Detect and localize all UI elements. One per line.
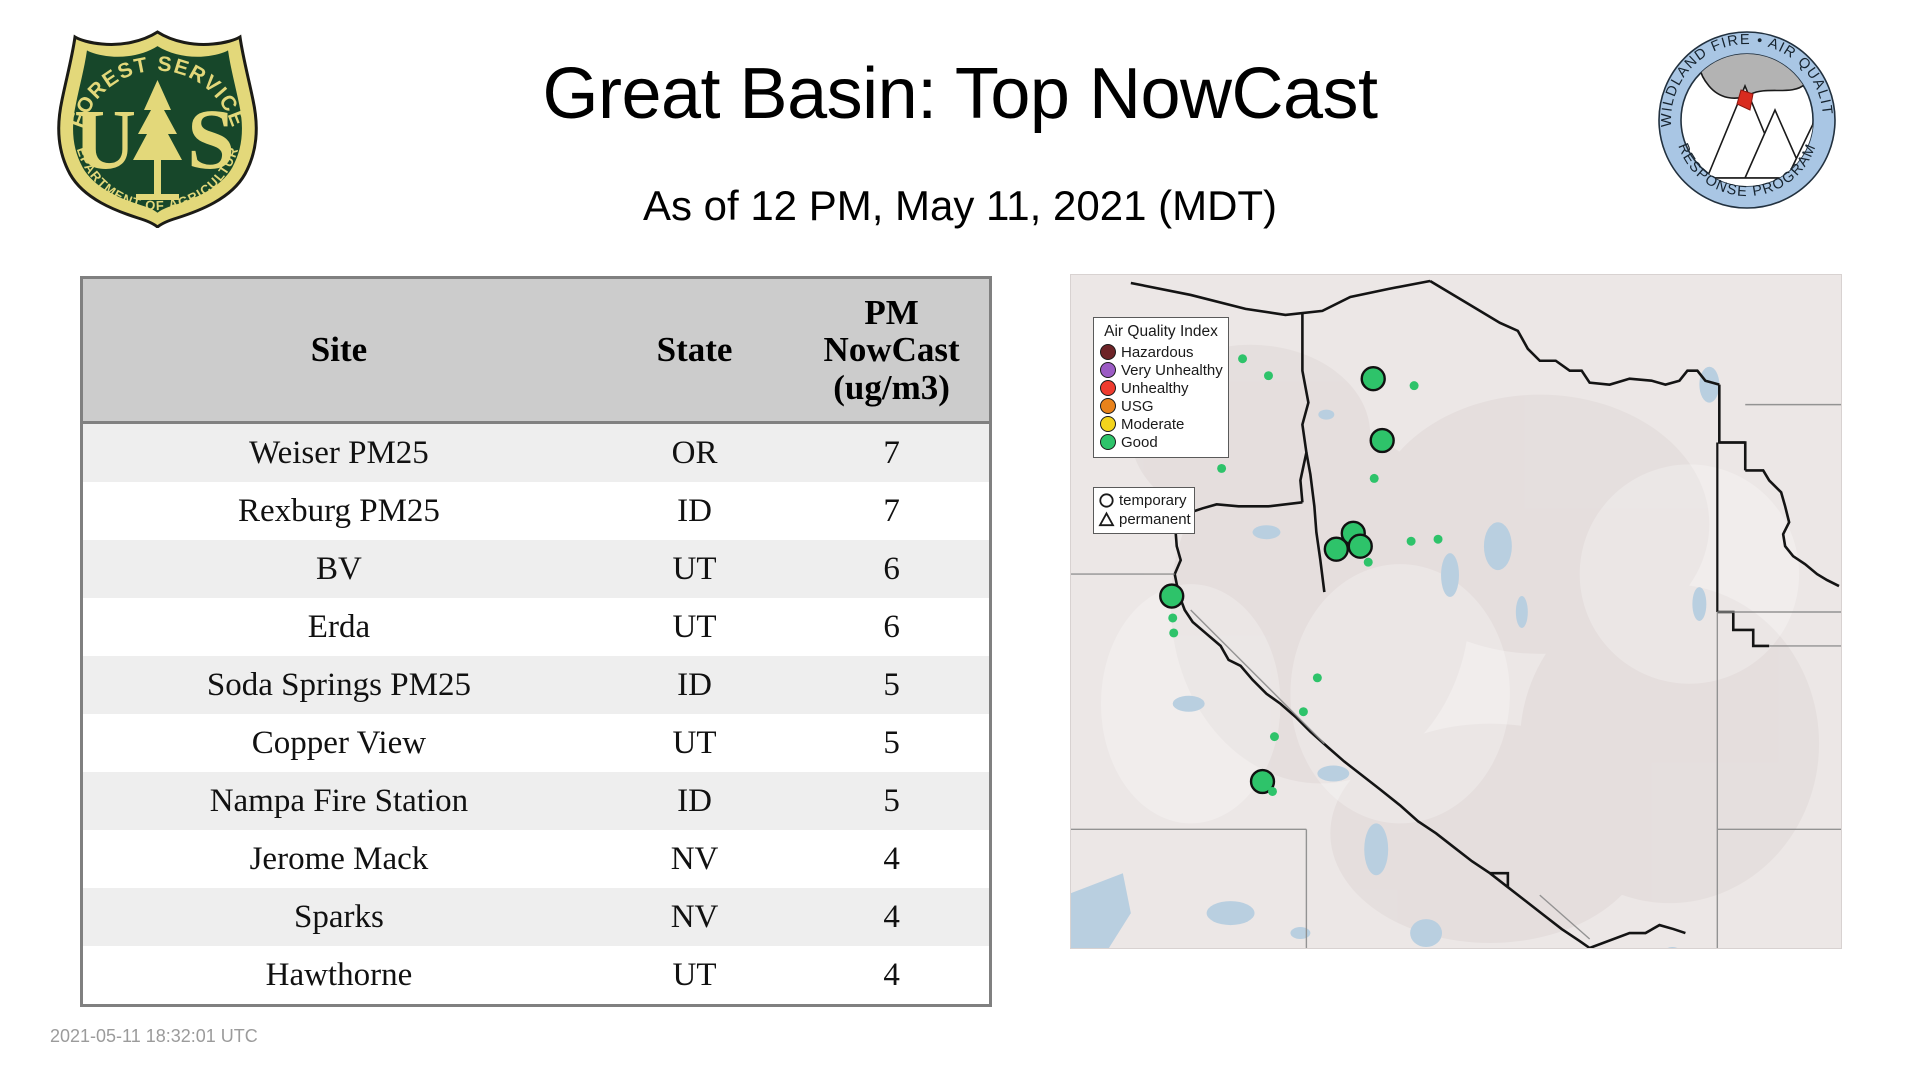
aqi-legend: Air Quality Index HazardousVery Unhealth… [1093, 317, 1229, 458]
table-row: Soda Springs PM25ID5 [83, 656, 989, 714]
cell-state: NV [595, 888, 794, 946]
table-row: SparksNV4 [83, 888, 989, 946]
aqi-legend-row: Unhealthy [1100, 379, 1222, 397]
cell-site: Copper View [83, 714, 595, 772]
monitor-marker[interactable] [1364, 558, 1373, 567]
cell-site: Rexburg PM25 [83, 482, 595, 540]
monitor-marker[interactable] [1349, 535, 1372, 558]
table-row: Nampa Fire StationID5 [83, 772, 989, 830]
monitor-marker[interactable] [1434, 535, 1443, 544]
cell-pm-nowcast: 5 [794, 772, 989, 830]
cell-site: Sparks [83, 888, 595, 946]
cell-state: UT [595, 598, 794, 656]
aqi-legend-label: Unhealthy [1121, 380, 1189, 397]
aqi-swatch-icon [1100, 434, 1116, 450]
aqi-swatch-icon [1100, 398, 1116, 414]
aqi-legend-label: USG [1121, 398, 1154, 415]
monitor-marker[interactable] [1299, 707, 1308, 716]
aqi-legend-row: Moderate [1100, 415, 1222, 433]
legend-row-temporary: temporary [1098, 491, 1189, 510]
legend-row-permanent: permanent [1098, 510, 1189, 529]
aqi-swatch-icon [1100, 344, 1116, 360]
monitor-marker[interactable] [1270, 732, 1279, 741]
usfs-shield-logo: FOREST SERVICE DEPARTMENT OF AGRICULTURE… [50, 28, 265, 228]
aqi-legend-row: Hazardous [1100, 343, 1222, 361]
legend-label-permanent: permanent [1119, 511, 1191, 528]
aqi-legend-title: Air Quality Index [1100, 323, 1222, 341]
aqi-legend-label: Hazardous [1121, 344, 1194, 361]
column-header-pm-line1: PM [798, 294, 985, 331]
column-header-site: Site [83, 279, 595, 423]
cell-state: ID [595, 482, 794, 540]
monitor-marker[interactable] [1160, 585, 1183, 608]
temporary-circle-icon [1098, 492, 1115, 509]
cell-pm-nowcast: 7 [794, 423, 989, 483]
cell-state: ID [595, 656, 794, 714]
monitor-marker[interactable] [1217, 464, 1226, 473]
aqi-legend-label: Moderate [1121, 416, 1184, 433]
page-subtitle: As of 12 PM, May 11, 2021 (MDT) [300, 182, 1620, 230]
render-timestamp: 2021-05-11 18:32:01 UTC [50, 1026, 258, 1047]
monitor-marker[interactable] [1370, 474, 1379, 483]
monitor-marker[interactable] [1371, 429, 1394, 452]
column-header-state: State [595, 279, 794, 423]
aqi-legend-row: Very Unhealthy [1100, 361, 1222, 379]
column-header-pm-line3: (ug/m3) [798, 369, 985, 406]
cell-state: OR [595, 423, 794, 483]
cell-site: Erda [83, 598, 595, 656]
monitor-marker[interactable] [1264, 371, 1273, 380]
cell-state: UT [595, 714, 794, 772]
monitor-marker[interactable] [1238, 354, 1247, 363]
cell-pm-nowcast: 4 [794, 830, 989, 888]
usfs-letter-u: U [74, 91, 136, 187]
aqi-legend-label: Very Unhealthy [1121, 362, 1223, 379]
monitor-marker[interactable] [1168, 613, 1177, 622]
table-row: Jerome MackNV4 [83, 830, 989, 888]
monitor-marker[interactable] [1169, 628, 1178, 637]
monitor-marker[interactable] [1325, 538, 1348, 561]
cell-site: Hawthorne [83, 946, 595, 1004]
monitor-marker[interactable] [1268, 787, 1277, 796]
cell-site: BV [83, 540, 595, 598]
cell-pm-nowcast: 5 [794, 656, 989, 714]
cell-state: ID [595, 772, 794, 830]
monitor-marker[interactable] [1407, 537, 1416, 546]
permanent-triangle-icon [1098, 511, 1115, 528]
monitor-marker[interactable] [1313, 673, 1322, 682]
table-row: Copper ViewUT5 [83, 714, 989, 772]
cell-state: UT [595, 946, 794, 1004]
cell-site: Weiser PM25 [83, 423, 595, 483]
aqi-legend-row: USG [1100, 397, 1222, 415]
table-row: HawthorneUT4 [83, 946, 989, 1004]
legend-label-temporary: temporary [1119, 492, 1187, 509]
aqi-swatch-icon [1100, 380, 1116, 396]
cell-site: Soda Springs PM25 [83, 656, 595, 714]
table-row: ErdaUT6 [83, 598, 989, 656]
wfaqrp-logo: WILDLAND FIRE • AIR QUALITY RESPONSE PRO… [1647, 28, 1847, 213]
cell-pm-nowcast: 6 [794, 598, 989, 656]
table-row: Rexburg PM25ID7 [83, 482, 989, 540]
column-header-pm-nowcast: PM NowCast (ug/m3) [794, 279, 989, 423]
cell-pm-nowcast: 4 [794, 888, 989, 946]
cell-pm-nowcast: 5 [794, 714, 989, 772]
column-header-state-label: State [657, 330, 733, 369]
monitor-type-legend: temporary permanent [1093, 487, 1195, 534]
aqi-legend-row: Good [1100, 433, 1222, 451]
column-header-pm-line2: NowCast [798, 331, 985, 368]
usfs-letter-s: S [187, 91, 235, 187]
air-quality-map[interactable]: Air Quality Index HazardousVery Unhealth… [1070, 274, 1842, 949]
aqi-legend-label: Good [1121, 434, 1158, 451]
table-row: Weiser PM25OR7 [83, 423, 989, 483]
aqi-swatch-icon [1100, 416, 1116, 432]
cell-pm-nowcast: 7 [794, 482, 989, 540]
cell-site: Nampa Fire Station [83, 772, 595, 830]
aqi-swatch-icon [1100, 362, 1116, 378]
cell-pm-nowcast: 4 [794, 946, 989, 1004]
table-header-row: Site State PM NowCast (ug/m3) [83, 279, 989, 423]
monitor-marker[interactable] [1362, 367, 1385, 390]
cell-state: NV [595, 830, 794, 888]
cell-pm-nowcast: 6 [794, 540, 989, 598]
cell-state: UT [595, 540, 794, 598]
monitor-marker[interactable] [1410, 381, 1419, 390]
column-header-site-label: Site [311, 330, 367, 369]
page-title: Great Basin: Top NowCast [300, 58, 1620, 130]
top-nowcast-table: Site State PM NowCast (ug/m3) Weiser PM2… [80, 276, 992, 1007]
cell-site: Jerome Mack [83, 830, 595, 888]
table-row: BVUT6 [83, 540, 989, 598]
